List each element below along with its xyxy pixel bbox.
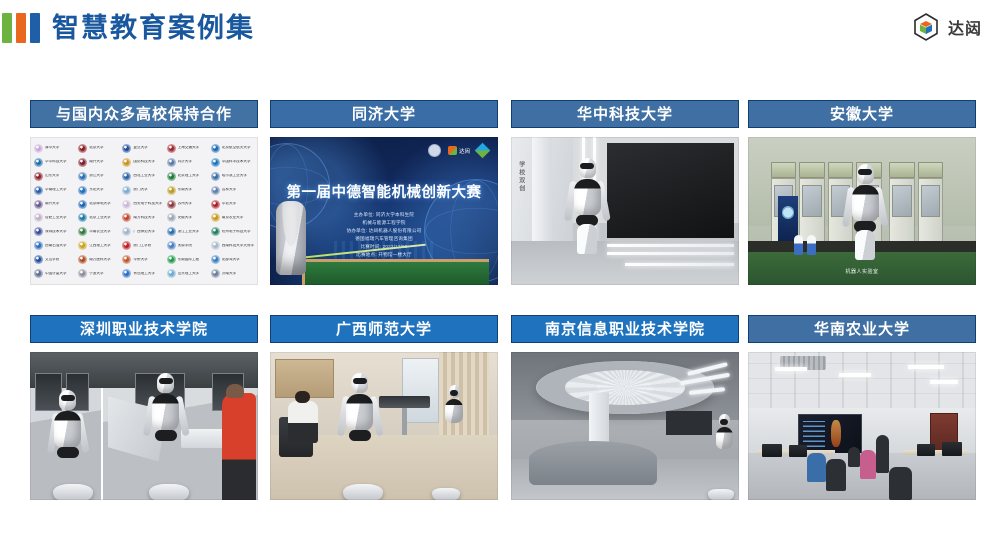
- university-name: 华中科技大学: [45, 160, 67, 164]
- humanoid-robot-graphic: [53, 390, 83, 474]
- university-name: 北京理工大学: [178, 174, 200, 178]
- window-graphic: [402, 358, 438, 423]
- university-logo-chip: 北京大学: [78, 142, 121, 155]
- university-seal-icon: [78, 144, 87, 153]
- university-seal-icon: [78, 241, 87, 250]
- university-logo-chip: 国防科技大学: [122, 156, 165, 169]
- university-logo-chip: 北京理工大学: [167, 170, 210, 183]
- small-robot-graphic: [807, 235, 816, 255]
- case-card-title: 深圳职业技术学院: [30, 315, 258, 343]
- university-seal-icon: [211, 186, 220, 195]
- computer-lab-photo: [748, 352, 976, 500]
- university-seal-icon: [211, 227, 220, 236]
- university-name: 西安电子科技大学: [133, 202, 162, 206]
- university-logo-chip: 西南石油大学: [34, 239, 77, 252]
- partner-diamond-icon: [475, 143, 491, 159]
- case-card-row-2: 深圳职业技术学院: [0, 315, 1000, 515]
- university-name: 宁波大学: [89, 272, 103, 276]
- humanoid-robot-graphic: [848, 164, 882, 272]
- light-strip-graphic: [607, 252, 735, 255]
- university-logo-chip: 安徽大学: [167, 211, 210, 224]
- university-logo-chip: 北京工业大学: [78, 211, 121, 224]
- university-seal-icon: [34, 241, 43, 250]
- university-seal-icon: [211, 172, 220, 181]
- university-name: 华南理工大学: [45, 188, 67, 192]
- university-seal-icon: [167, 269, 176, 278]
- storage-bin-graphic: [918, 162, 944, 178]
- university-name: 北京航空航天大学: [222, 146, 251, 150]
- person-graphic: [876, 435, 890, 473]
- university-name: 厦门工学院: [133, 244, 151, 248]
- university-name: 合肥工业大学: [45, 216, 67, 220]
- university-name: 西南石油大学: [45, 244, 67, 248]
- case-card-title: 华南农业大学: [748, 315, 976, 343]
- case-card-title: 与国内众多高校保持合作: [30, 100, 258, 128]
- university-name: 中国计量大学: [45, 272, 67, 276]
- university-seal-icon: [122, 158, 131, 167]
- university-seal-icon: [78, 172, 87, 181]
- university-logo-chip: 广西师范大学: [122, 225, 165, 238]
- university-name: 国防科技大学: [133, 160, 155, 164]
- university-name: 西北工业大学: [133, 174, 155, 178]
- podium-graphic: [379, 396, 429, 408]
- robot-base-graphic: [432, 488, 460, 500]
- university-seal-icon: [78, 227, 87, 236]
- university-seal-icon: [167, 144, 176, 153]
- person-graphic: [860, 450, 876, 480]
- university-seal-icon: [78, 213, 87, 222]
- university-logo-chip: 吉林大学: [211, 184, 254, 197]
- university-name: 复旦大学: [133, 146, 147, 150]
- case-card-partner-universities[interactable]: 与国内众多高校保持合作 清华大学北京大学复旦大学上海交通大学北京航空航天大学华中…: [30, 100, 258, 285]
- university-logo-wall: 清华大学北京大学复旦大学上海交通大学北京航空航天大学华中科技大学南开大学国防科技…: [30, 137, 258, 285]
- university-logo-chip: 华南农业大学: [78, 225, 121, 238]
- university-name: 同济大学: [178, 160, 192, 164]
- university-logo-chip: 厦门大学: [122, 184, 165, 197]
- university-logo-chip: 复旦大学: [122, 142, 165, 155]
- university-logo-chip: 杭州电子科技大学: [211, 225, 254, 238]
- university-name: 北京大学: [89, 146, 103, 150]
- university-logo-chip: 浙江大学: [78, 170, 121, 183]
- cloudminds-mark-icon: [448, 146, 457, 155]
- lobby-robot-photo: [511, 352, 739, 500]
- university-name: 浙江大学: [89, 174, 103, 178]
- brand-bar-blue-icon: [30, 13, 40, 43]
- university-name: 济南大学: [222, 272, 236, 276]
- university-seal-icon: [78, 186, 87, 195]
- circular-ceiling-graphic: [536, 361, 714, 414]
- case-card-media: [511, 352, 739, 500]
- university-name: 中国科学技术大学: [222, 160, 251, 164]
- university-seal-icon: [78, 200, 87, 209]
- university-name: 山东理工大学: [178, 272, 200, 276]
- university-seal-icon: [167, 172, 176, 181]
- university-seal-icon: [122, 227, 131, 236]
- university-name: 太原学院: [178, 244, 192, 248]
- university-name: 深圳技术大学: [45, 230, 67, 234]
- university-name: 吉林大学: [222, 188, 236, 192]
- humanoid-robot-graphic: [149, 373, 183, 469]
- university-logo-chip: 浙江工业大学: [167, 225, 210, 238]
- storage-bin-graphic: [771, 162, 797, 178]
- university-logo-chip: 上海交通大学: [167, 142, 210, 155]
- university-logo-chip: 宁波大学: [78, 267, 121, 280]
- cabinet-graphic: [918, 178, 944, 243]
- case-card-title: 广西师范大学: [270, 315, 498, 343]
- person-graphic: [889, 467, 912, 500]
- university-name: 南京农业大学: [222, 216, 244, 220]
- university-seal-icon: [122, 200, 131, 209]
- classroom-robots-photo: [270, 352, 498, 500]
- hexagon-cube-icon: [911, 12, 941, 42]
- university-name: 华侨大学: [133, 258, 147, 262]
- university-logo-chip: 合肥工业大学: [34, 211, 77, 224]
- university-logo-chip: 中国计量大学: [34, 267, 77, 280]
- banner-logo-row: 达闼: [428, 144, 488, 157]
- university-logo-chip: 华南理工大学: [34, 184, 77, 197]
- case-card-anhui-university[interactable]: 安徽大学: [748, 100, 976, 285]
- university-seal-icon: [211, 241, 220, 250]
- university-seal-icon: [34, 200, 43, 209]
- university-seal-icon: [34, 255, 43, 264]
- university-seal-icon: [122, 241, 131, 250]
- university-logo-chip: 中北大学: [211, 198, 254, 211]
- university-logo-chip: 清华大学: [34, 142, 77, 155]
- brand-bar-green-icon: [2, 13, 12, 43]
- university-name: 广西师范大学: [133, 230, 155, 234]
- case-card-media: 清华大学北京大学复旦大学上海交通大学北京航空航天大学华中科技大学南开大学国防科技…: [30, 137, 258, 285]
- case-card-south-china-agricultural-university[interactable]: 华南农业大学: [748, 315, 976, 500]
- university-name: 青岛理工大学: [133, 272, 155, 276]
- case-card-title: 同济大学: [270, 100, 498, 128]
- ceiling-light-graphic: [930, 380, 957, 384]
- university-name: 江西理工大学: [89, 244, 111, 248]
- light-strip-graphic: [625, 263, 734, 266]
- university-logo-chip: 南开大学: [78, 156, 121, 169]
- cloudminds-logo-label: 达闼: [459, 147, 470, 155]
- partner-logo: [477, 145, 488, 156]
- university-logo-chip: 青岛理工大学: [122, 267, 165, 280]
- university-logo-chip: 北部湾大学: [211, 253, 254, 266]
- university-name: 北部湾大学: [222, 258, 240, 262]
- corporate-logo-name: 达闼: [948, 15, 982, 39]
- photo-caption: 机器人实验室: [748, 268, 976, 275]
- university-seal-icon: [167, 255, 176, 264]
- light-strip-graphic: [607, 244, 735, 247]
- storage-bin-graphic: [799, 162, 825, 178]
- university-name: 浙江工业大学: [178, 230, 200, 234]
- university-seal-icon: [167, 213, 176, 222]
- university-seal-icon: [78, 158, 87, 167]
- university-logo-chip: 深圳技术大学: [34, 225, 77, 238]
- university-logo-chip: 文山学院: [34, 253, 77, 266]
- case-card-shenzhen-polytechnic[interactable]: 深圳职业技术学院: [30, 315, 258, 500]
- storage-bin-graphic: [889, 162, 915, 178]
- page-header: 智慧教育案例集 达闼: [0, 0, 1000, 56]
- university-seal-icon: [34, 269, 43, 278]
- university-seal-icon: [211, 213, 220, 222]
- university-seal-icon: [167, 186, 176, 195]
- case-card-title: 安徽大学: [748, 100, 976, 128]
- university-seal-icon: [78, 269, 87, 278]
- humanoid-robot-graphic: [714, 414, 734, 470]
- university-name: 山东大学: [45, 174, 59, 178]
- university-name: 东南大学: [178, 188, 192, 192]
- university-logo-chip: 华中科技大学: [34, 156, 77, 169]
- case-card-media: [270, 352, 498, 500]
- robot-base-graphic: [343, 484, 383, 500]
- humanoid-robot-graphic: [343, 373, 377, 469]
- university-name: 华南农业大学: [89, 230, 111, 234]
- university-name: 南开大学: [89, 160, 103, 164]
- case-card-guangxi-normal-university[interactable]: 广西师范大学: [270, 315, 498, 500]
- university-logo-chip: 北京航空航天大学: [211, 142, 254, 155]
- university-name: 北京工业大学: [89, 216, 111, 220]
- university-logo-chip: 南方科技大学: [122, 211, 165, 224]
- university-name: 西南科技大学天府学院: [222, 244, 254, 248]
- university-seal-icon: [167, 227, 176, 236]
- university-name: 厦门大学: [133, 188, 147, 192]
- university-seal-icon: [211, 269, 220, 278]
- brand-bar-orange-icon: [16, 13, 26, 43]
- university-name: 中北大学: [222, 202, 236, 206]
- monitor-graphic: [917, 444, 935, 456]
- university-logo-chip: 中国科学技术大学: [211, 156, 254, 169]
- university-name: 南开大学: [45, 202, 59, 206]
- banner-heading: 第一届中德智能机械创新大赛: [270, 181, 498, 202]
- person-graphic: [848, 447, 859, 468]
- university-seal-icon: [211, 200, 220, 209]
- pillar-graphic: [532, 137, 553, 255]
- university-name: 文山学院: [45, 258, 59, 262]
- university-name: 清华大学: [45, 146, 59, 150]
- corporate-logo: 达闼: [911, 12, 982, 42]
- university-logo-chip: 西安电子科技大学: [122, 198, 165, 211]
- case-card-nanjing-vocational-college[interactable]: 南京信息职业技术学院: [511, 315, 739, 500]
- case-card-media: 达闼 第一届中德智能机械创新大赛 主办单位: 同济大学本科生院机械与能源工程学院…: [270, 137, 498, 285]
- monitor-graphic: [942, 442, 963, 455]
- ceiling-light-graphic: [839, 373, 871, 377]
- doorway-graphic: [666, 411, 712, 435]
- case-card-title: 华中科技大学: [511, 100, 739, 128]
- robot-base-graphic: [149, 484, 189, 500]
- university-logo-chip: 南方医科大学: [78, 253, 121, 266]
- two-robots-photo: [30, 352, 258, 500]
- ceiling-light-graphic: [775, 367, 807, 371]
- university-name: 南方科技大学: [133, 216, 155, 220]
- case-card-huazhong-university[interactable]: 华中科技大学 学校双创: [511, 100, 739, 285]
- monitor-graphic: [762, 444, 783, 457]
- university-seal-icon: [211, 144, 220, 153]
- university-seal-icon: [167, 241, 176, 250]
- person-graphic: [826, 459, 847, 492]
- university-logo-chip: 华侨大学: [122, 253, 165, 266]
- university-seal-icon: [34, 213, 43, 222]
- case-cards-area: 与国内众多高校保持合作 清华大学北京大学复旦大学上海交通大学北京航空航天大学华中…: [0, 84, 1000, 524]
- case-card-media: [30, 352, 258, 500]
- banner-robot-graphic: [276, 201, 306, 275]
- robot-base-graphic: [708, 489, 734, 500]
- university-logo-chip: 江西理工大学: [78, 239, 121, 252]
- person-graphic: [222, 393, 256, 500]
- university-name: 安徽大学: [178, 216, 192, 220]
- university-logo-chip: 山东大学: [34, 170, 77, 183]
- university-logo-chip: 南开大学: [34, 198, 77, 211]
- university-logo-chip: 东南大学: [167, 184, 210, 197]
- competition-banner-photo: 达闼 第一届中德智能机械创新大赛 主办单位: 同济大学本科生院机械与能源工程学院…: [270, 137, 498, 285]
- university-name: 东南国际工程: [178, 258, 200, 262]
- university-name: 苏州大学: [178, 202, 192, 206]
- university-name: 东北大学: [89, 188, 103, 192]
- page-title: 智慧教育案例集: [52, 15, 255, 42]
- cabinet-graphic: [799, 178, 825, 243]
- university-name: 杭州电子科技大学: [222, 230, 251, 234]
- university-logo-chip: 同济大学: [167, 156, 210, 169]
- university-seal-icon: [167, 200, 176, 209]
- university-seal-icon: [428, 144, 441, 157]
- university-seal-icon: [211, 255, 220, 264]
- university-seal-icon: [122, 269, 131, 278]
- university-name: 哈尔滨工业大学: [222, 174, 247, 178]
- billiard-table-graphic: [302, 259, 489, 285]
- small-robot-graphic: [794, 235, 803, 255]
- wall-vertical-text: 学校双创: [517, 161, 526, 193]
- case-card-media: 机器人实验室: [748, 137, 976, 285]
- university-logo-chip: 东北大学: [78, 184, 121, 197]
- corridor-robot-photo: 学校双创: [511, 137, 739, 285]
- university-name: 北京邮电大学: [89, 202, 111, 206]
- university-logo-chip: 太原学院: [167, 239, 210, 252]
- university-logo-chip: 西南科技大学天府学院: [211, 239, 254, 252]
- reception-counter-graphic: [529, 441, 657, 485]
- robot-base-graphic: [53, 484, 93, 500]
- university-seal-icon: [211, 158, 220, 167]
- university-seal-icon: [122, 255, 131, 264]
- university-logo-chip: 北京邮电大学: [78, 198, 121, 211]
- case-card-tongji-university[interactable]: 同济大学 达闼: [270, 100, 498, 285]
- university-name: 南方医科大学: [89, 258, 111, 262]
- case-card-media: 学校双创: [511, 137, 739, 285]
- university-seal-icon: [34, 227, 43, 236]
- cabinet-graphic: [889, 178, 915, 243]
- university-seal-icon: [34, 158, 43, 167]
- university-seal-icon: [78, 255, 87, 264]
- university-seal-icon: [122, 172, 131, 181]
- cloudminds-logo: 达闼: [448, 146, 470, 155]
- brand-bars-logo: [2, 13, 40, 43]
- ceiling-light-graphic: [908, 365, 944, 369]
- university-seal-icon: [34, 144, 43, 153]
- university-logo-chip: 山东理工大学: [167, 267, 210, 280]
- university-seal-icon: [34, 186, 43, 195]
- university-logo-chip: 厦门工学院: [122, 239, 165, 252]
- monitor-graphic: [789, 445, 807, 457]
- humanoid-robot-graphic: [443, 385, 465, 447]
- university-name: 上海交通大学: [178, 146, 200, 150]
- lab-robot-photo: 机器人实验室: [748, 137, 976, 285]
- university-seal-icon: [122, 213, 131, 222]
- university-logo-chip: 西北工业大学: [122, 170, 165, 183]
- university-logo-chip: 哈尔滨工业大学: [211, 170, 254, 183]
- poster-graphic: [778, 196, 799, 240]
- university-seal-icon: [34, 172, 43, 181]
- case-card-row-1: 与国内众多高校保持合作 清华大学北京大学复旦大学上海交通大学北京航空航天大学华中…: [0, 100, 1000, 300]
- university-seal-icon: [122, 186, 131, 195]
- university-logo-chip: 南京农业大学: [211, 211, 254, 224]
- university-logo-chip: 苏州大学: [167, 198, 210, 211]
- university-seal-icon: [122, 144, 131, 153]
- university-logo-chip: 东南国际工程: [167, 253, 210, 266]
- university-logo-chip: 济南大学: [211, 267, 254, 280]
- university-seal-icon: [167, 158, 176, 167]
- person-graphic: [288, 401, 318, 443]
- display-screen-graphic: [607, 143, 735, 238]
- humanoid-robot-graphic: [570, 158, 604, 258]
- person-graphic: [807, 453, 825, 483]
- case-card-media: [748, 352, 976, 500]
- case-card-title: 南京信息职业技术学院: [511, 315, 739, 343]
